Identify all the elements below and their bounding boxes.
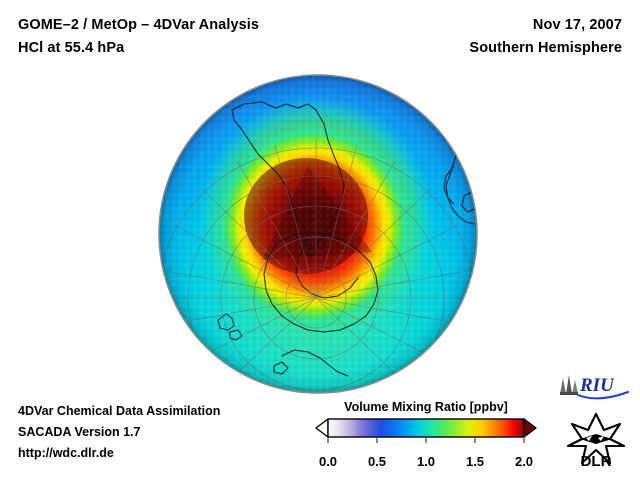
- colorbar: Volume Mixing Ratio [ppbv]: [312, 400, 540, 472]
- date-label: Nov 17, 2007: [469, 14, 622, 37]
- riu-logo: RIU: [556, 372, 630, 402]
- colorbar-cap-left: [316, 419, 328, 437]
- header-left: GOME–2 / MetOp – 4DVar Analysis HCl at 5…: [18, 14, 259, 60]
- footer-line-version: SACADA Version 1.7: [18, 422, 220, 443]
- colorbar-tick-3: 1.5: [466, 454, 484, 469]
- globe-map: [158, 74, 478, 394]
- colorbar-tick-0: 0.0: [319, 454, 337, 469]
- riu-towers-icon: [560, 375, 578, 395]
- colorbar-ticks: [328, 437, 524, 443]
- footer-line-assimilation: 4DVar Chemical Data Assimilation: [18, 401, 220, 422]
- page-subtitle: HCl at 55.4 hPa: [18, 37, 259, 60]
- visualization-page: GOME–2 / MetOp – 4DVar Analysis HCl at 5…: [0, 0, 640, 480]
- region-label: Southern Hemisphere: [469, 37, 622, 60]
- dlr-wordmark: DLR: [581, 453, 612, 468]
- footer-text-block: 4DVar Chemical Data Assimilation SACADA …: [18, 401, 220, 464]
- page-title: GOME–2 / MetOp – 4DVar Analysis: [18, 14, 259, 37]
- orthographic-projection-svg: [158, 74, 478, 394]
- footer-line-url[interactable]: http://wdc.dlr.de: [18, 443, 220, 464]
- colorbar-tick-2: 1.0: [417, 454, 435, 469]
- colorbar-svg: [312, 417, 540, 453]
- header-right: Nov 17, 2007 Southern Hemisphere: [469, 14, 622, 60]
- colorbar-tick-4: 2.0: [515, 454, 533, 469]
- colorbar-gradient: [328, 419, 524, 437]
- colorbar-cap-right: [524, 419, 536, 437]
- colorbar-tick-1: 0.5: [368, 454, 386, 469]
- riu-wordmark: RIU: [579, 375, 615, 396]
- colorbar-tick-labels: 0.0 0.5 1.0 1.5 2.0: [312, 454, 540, 472]
- dlr-logo: DLR: [566, 412, 628, 468]
- colorbar-title: Volume Mixing Ratio [ppbv]: [312, 400, 540, 414]
